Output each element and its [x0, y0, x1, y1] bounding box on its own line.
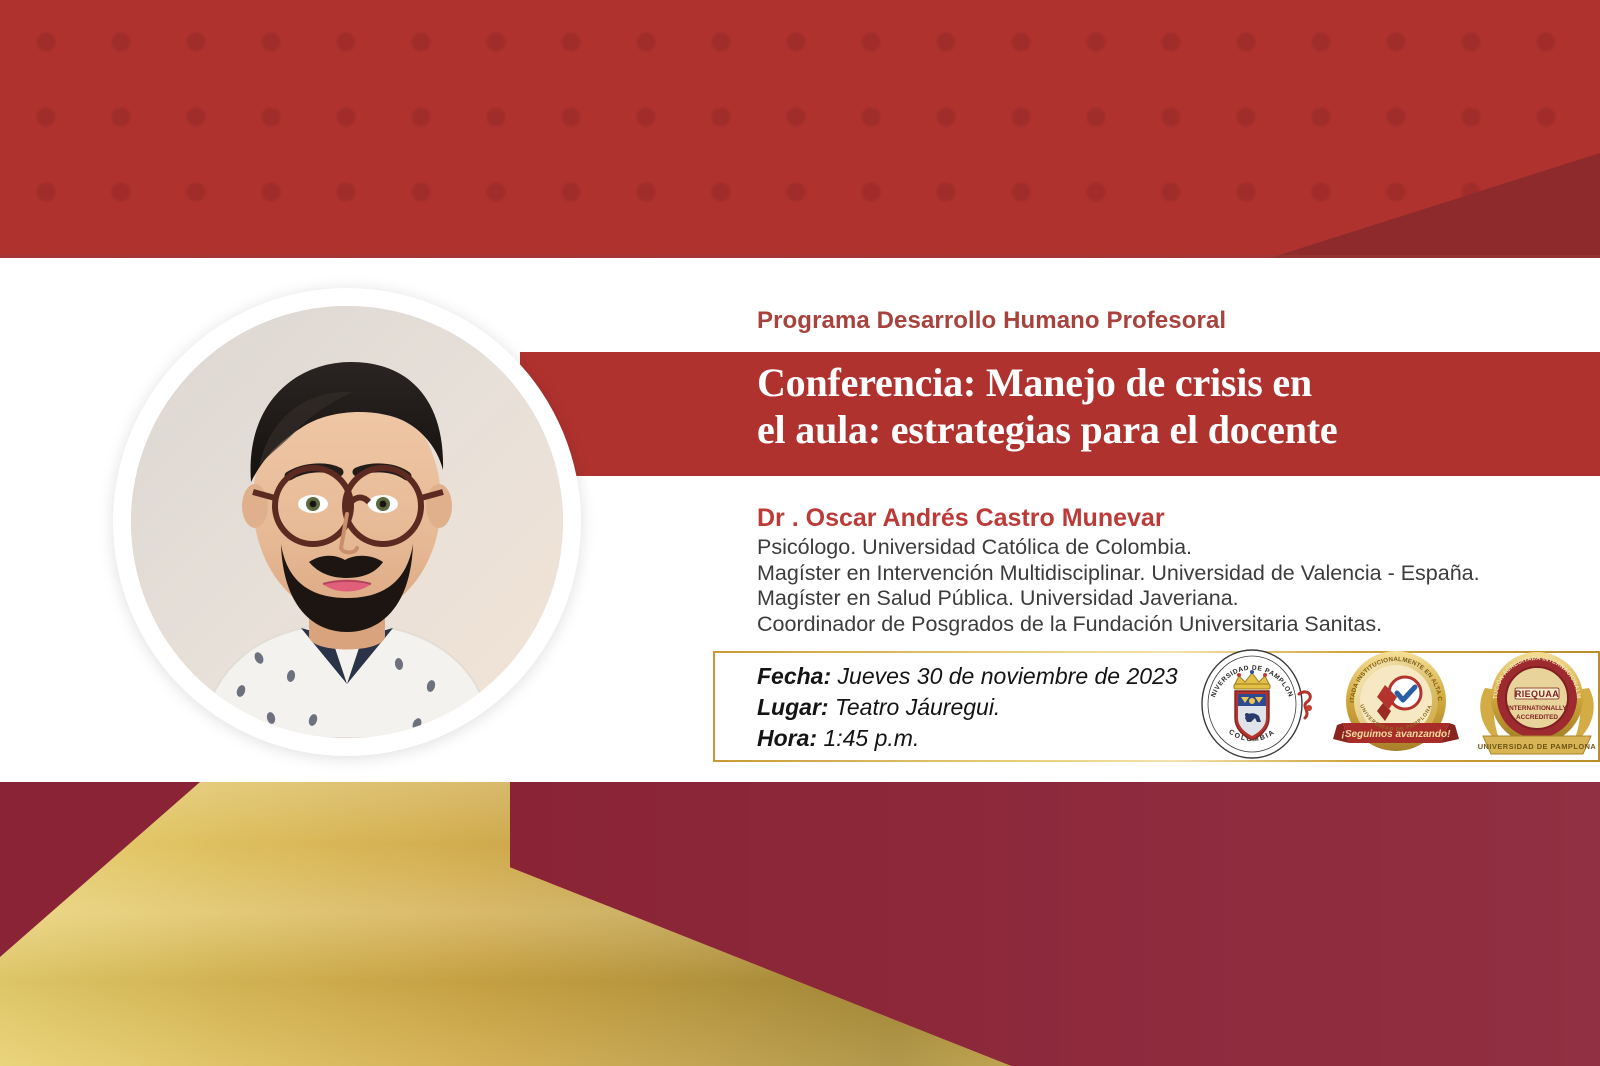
detail-value-time: 1:45 p.m. [823, 725, 919, 751]
speaker-name: Dr . Oscar Andrés Castro Munevar [757, 504, 1165, 533]
conference-title-line1: Conferencia: Manejo de crisis en [757, 360, 1312, 405]
universidad-de-pamplona-crest-icon: UNIVERSIDAD DE PAMPLONA COLOMBIA [1197, 648, 1307, 760]
credential-line: Magíster en Intervención Multidisciplina… [757, 561, 1547, 587]
program-label: Programa Desarrollo Humano Profesoral [757, 307, 1226, 335]
detail-row-time: Hora: 1:45 p.m. [757, 723, 1178, 754]
svg-text:RIEQUAA: RIEQUAA [1515, 689, 1559, 699]
svg-text:INTERNATIONALLY: INTERNATIONALLY [1507, 705, 1567, 712]
detail-row-date: Fecha: Jueves 30 de noviembre de 2023 [757, 661, 1178, 692]
detail-value-date: Jueves 30 de noviembre de 2023 [838, 663, 1178, 689]
credential-line: Coordinador de Posgrados de la Fundación… [757, 612, 1547, 638]
header-dot-pattern [0, 0, 1600, 258]
speaker-photo-illustration [131, 306, 563, 738]
credential-line: Magíster en Salud Pública. Universidad J… [757, 586, 1547, 612]
content-area: Programa Desarrollo Humano Profesoral Co… [0, 258, 1600, 782]
footer-band [0, 782, 1600, 1066]
speaker-avatar [113, 288, 581, 756]
detail-label-place: Lugar: [757, 694, 829, 720]
detail-row-place: Lugar: Teatro Jáuregui. [757, 692, 1178, 723]
event-poster: Programa Desarrollo Humano Profesoral Co… [0, 0, 1600, 1066]
speaker-credentials: Psicólogo. Universidad Católica de Colom… [757, 535, 1547, 637]
svg-text:UNIVERSIDAD DE PAMPLONA: UNIVERSIDAD DE PAMPLONA [1478, 742, 1597, 751]
credential-line: Psicólogo. Universidad Católica de Colom… [757, 535, 1547, 561]
conference-title-line2: el aula: estrategias para el docente [757, 406, 1587, 453]
crest-flourish-icon [1295, 684, 1317, 724]
speaker-photo [131, 306, 563, 738]
svg-text:ACCREDITED: ACCREDITED [1516, 714, 1558, 721]
detail-value-place: Teatro Jáuregui. [835, 694, 1000, 720]
accreditation-seals: UNIVERSIDAD DE PAMPLONA COLOMBIA [1197, 644, 1600, 764]
header-band [0, 0, 1600, 258]
conference-title: Conferencia: Manejo de crisis en el aula… [757, 359, 1587, 453]
detail-label-time: Hora: [757, 725, 817, 751]
event-details: Fecha: Jueves 30 de noviembre de 2023 Lu… [757, 661, 1178, 754]
riequaa-international-accreditation-seal-icon: INSTITUCIÓN ACREDITADA INTERNACIONALMENT… [1471, 644, 1600, 764]
alta-calidad-accreditation-seal-icon: ACREDITADA INSTITUCIONALMENTE EN ALTA CA… [1327, 645, 1465, 763]
detail-label-date: Fecha: [757, 663, 831, 689]
